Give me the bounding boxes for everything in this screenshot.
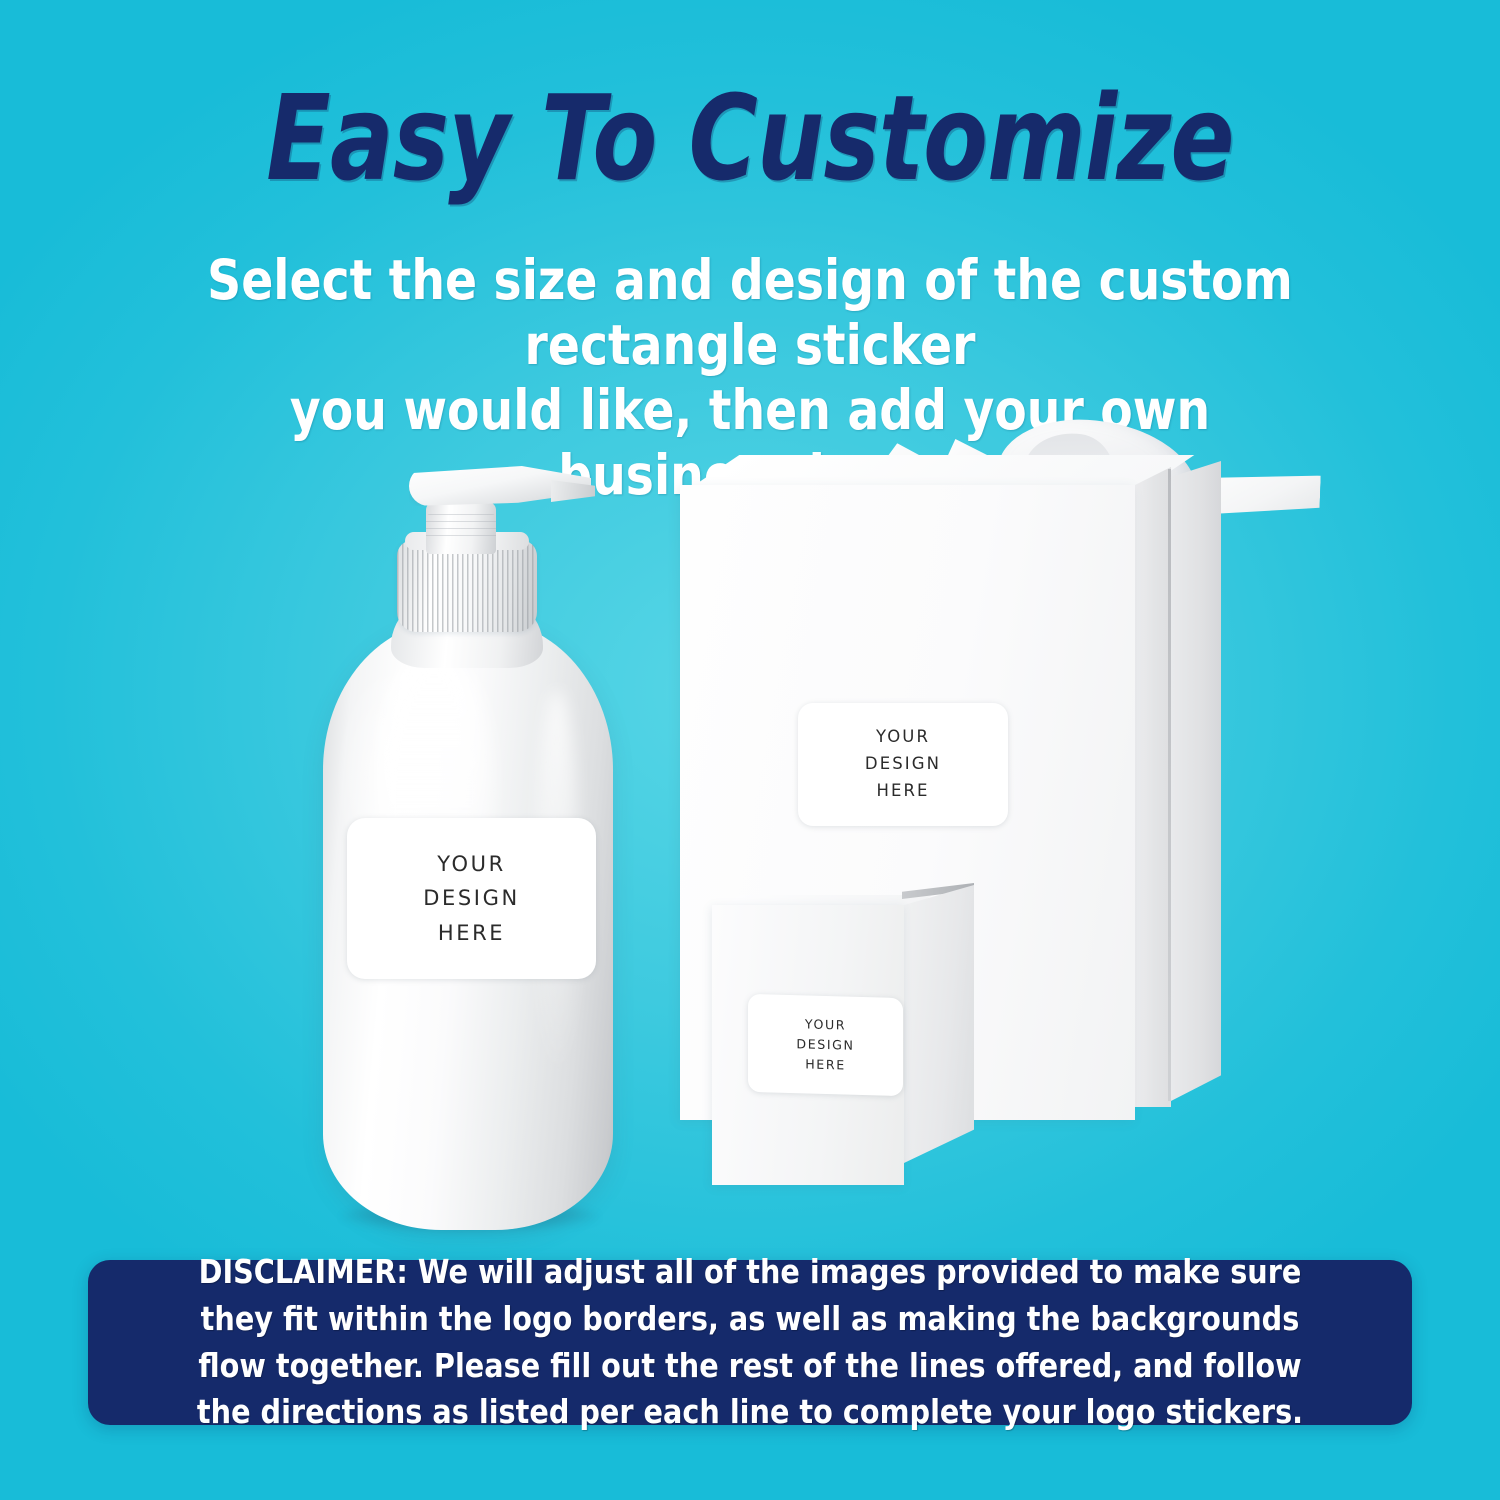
sticker-label-bottle[interactable]: YOUR DESIGN HERE [347,818,596,979]
disclaimer-text: DISCLAIMER: We will adjust all of the im… [174,1249,1326,1436]
sticker-line-1: YOUR [805,1015,846,1036]
sticker-line-1: YOUR [876,724,930,751]
promo-graphic: Easy To Customize Select the size and de… [0,0,1500,1500]
sticker-line-1: YOUR [437,847,506,881]
gift-box-side-face [1135,467,1171,1107]
gift-box-edge-crease [1168,469,1171,1101]
bottle-pump-shaft-ridges [426,514,496,540]
disclaimer-banner: DISCLAIMER: We will adjust all of the im… [88,1260,1412,1425]
sticker-line-3: HERE [805,1054,846,1075]
small-box-side-face [904,885,974,1163]
sticker-line-2: DESIGN [423,881,520,915]
sticker-label-small-box[interactable]: YOUR DESIGN HERE [748,994,903,1096]
sticker-line-2: DESIGN [865,751,941,778]
sticker-line-3: HERE [438,916,505,950]
product-mockup-scene: YOUR DESIGN HERE YOUR DESIGN HERE [0,0,1500,1260]
gift-box-back-side-face [1171,461,1221,1101]
sticker-label-gift-box[interactable]: YOUR DESIGN HERE [798,703,1008,826]
sticker-line-2: DESIGN [796,1034,854,1056]
disclaimer-prefix: DISCLAIMER: [199,1252,408,1291]
sticker-line-3: HERE [876,778,929,805]
